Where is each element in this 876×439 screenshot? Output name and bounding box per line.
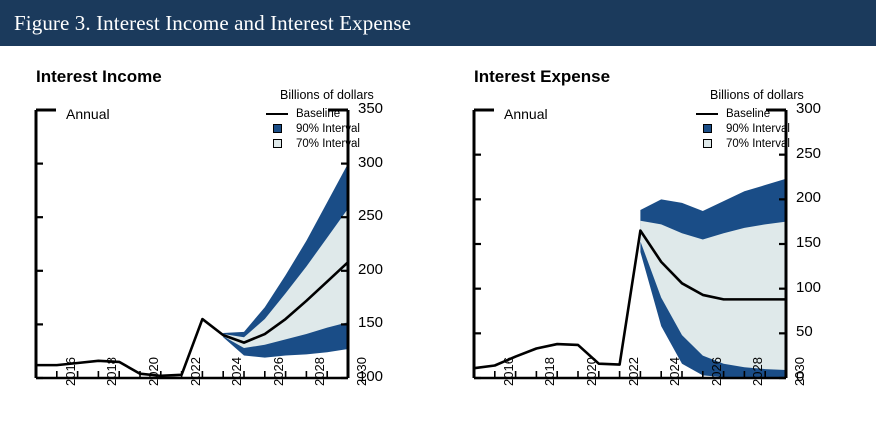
x-tick-label: 2028 <box>750 357 765 386</box>
y-tick-label: 0 <box>796 368 804 385</box>
y-tick-label: 150 <box>796 234 821 251</box>
y-tick-label: 150 <box>358 314 383 331</box>
y-tick-label: 300 <box>796 100 821 117</box>
x-tick-label: 2028 <box>312 357 327 386</box>
x-tick-label: 2024 <box>229 357 244 386</box>
x-tick-label: 2026 <box>271 357 286 386</box>
x-tick-label: 2020 <box>584 357 599 386</box>
x-tick-label: 2018 <box>104 357 119 386</box>
y-tick-label: 50 <box>796 323 813 340</box>
figure-title-bar: Figure 3. Interest Income and Interest E… <box>0 0 876 46</box>
y-tick-label: 200 <box>358 261 383 278</box>
y-tick-label: 200 <box>796 189 821 206</box>
figure-root: Figure 3. Interest Income and Interest E… <box>0 0 876 439</box>
panel-interest-expense: Interest Expense Billions of dollars Ann… <box>438 46 876 439</box>
panel-interest-income: Interest Income Billions of dollars Annu… <box>0 46 438 439</box>
x-tick-label: 2018 <box>542 357 557 386</box>
y-tick-label: 100 <box>358 368 383 385</box>
y-tick-label: 300 <box>358 154 383 171</box>
x-tick-label: 2022 <box>626 357 641 386</box>
x-tick-label: 2020 <box>146 357 161 386</box>
y-tick-label: 250 <box>358 207 383 224</box>
y-tick-label: 100 <box>796 279 821 296</box>
bands-70-expense <box>640 221 786 370</box>
x-tick-label: 2024 <box>667 357 682 386</box>
x-tick-label: 2016 <box>501 357 516 386</box>
x-tick-label: 2016 <box>63 357 78 386</box>
y-tick-label: 250 <box>796 145 821 162</box>
chart-panels: Interest Income Billions of dollars Annu… <box>0 46 876 439</box>
figure-title: Figure 3. Interest Income and Interest E… <box>14 11 411 36</box>
x-tick-label: 2026 <box>709 357 724 386</box>
y-tick-label: 350 <box>358 100 383 117</box>
x-tick-label: 2022 <box>188 357 203 386</box>
